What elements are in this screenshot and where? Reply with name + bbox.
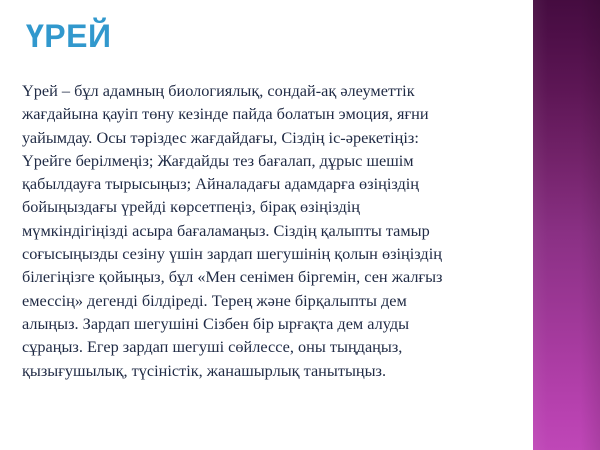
decorative-gradient-band [533,0,600,450]
presentation-slide: ҮРЕЙ Үрей – бұл адамның биологиялық, сон… [0,0,600,450]
slide-body-text: Үрей – бұл адамның биологиялық, сондай-а… [22,79,517,382]
slide-title: ҮРЕЙ [26,19,111,54]
